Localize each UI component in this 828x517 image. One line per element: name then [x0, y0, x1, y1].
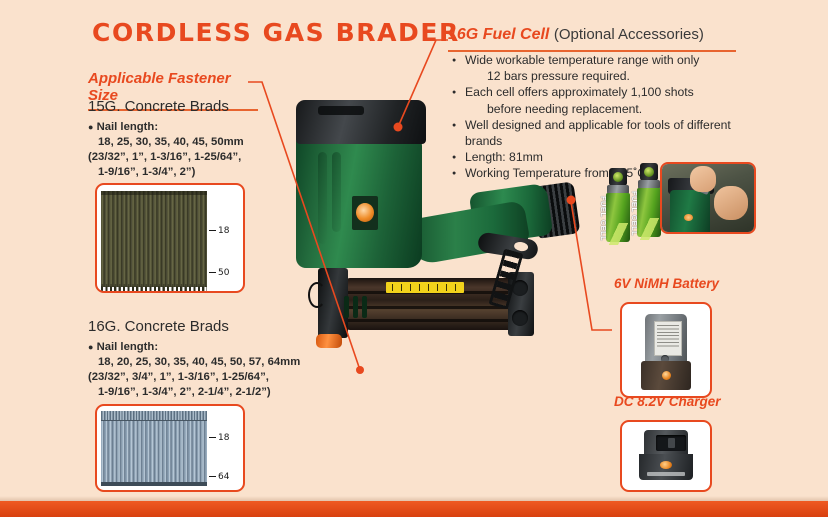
nail-strip-15g-graphic	[101, 191, 207, 287]
charger-label-text: DC 8.2V Charger	[614, 394, 721, 409]
fuel-cell-canister-1: FUEL CELL	[605, 168, 631, 242]
brand-logo-icon	[352, 196, 378, 230]
page-title: CORDLESS GAS BRADER	[92, 18, 460, 47]
bullet-dot-icon: ●	[88, 342, 93, 352]
magazine-scale-sticker	[386, 282, 464, 293]
vent-slots	[342, 296, 370, 318]
fuel-cell-can-label: FUEL CELL	[599, 196, 608, 240]
battery-image	[620, 302, 712, 398]
product-spec-page: CORDLESS GAS BRADER Applicable Fastener …	[0, 0, 828, 517]
top-cap	[296, 100, 426, 144]
depth-adjust-knob	[316, 334, 342, 348]
fuel-cell-installation-photo	[660, 162, 756, 234]
battery-label: 6V NiMH Battery	[614, 276, 719, 291]
cordless-gas-nailer-image	[282, 92, 582, 412]
bullet-dot-icon: ●	[88, 122, 93, 132]
battery-label-text: 6V NiMH Battery	[614, 276, 719, 291]
fuel-cell-canister-2: FUEL CELL	[636, 163, 662, 237]
image-16g-brads: 18 64	[95, 404, 245, 492]
tick-label-16g-bottom: 64	[209, 472, 229, 482]
bottom-bar	[0, 501, 828, 517]
tick-label-15g-top: 18	[209, 226, 229, 236]
charger-image	[620, 420, 712, 492]
charger-graphic	[639, 430, 693, 484]
tick-label-15g-bottom: 50	[209, 268, 229, 278]
list-item: Wide workable temperature range with onl…	[452, 52, 742, 84]
fuel-cell-can-label: FUEL CELL	[630, 191, 639, 235]
tick-label-16g-top: 18	[209, 433, 229, 443]
subheading-15g: 15G. Concrete Brads	[88, 98, 229, 115]
fuel-cell-heading: 16G Fuel Cell (Optional Accessories)	[448, 26, 736, 48]
subheading-16g: 16G. Concrete Brads	[88, 318, 229, 335]
nail-strip-16g-graphic	[101, 411, 207, 486]
fuel-cell-heading-suffix: (Optional Accessories)	[554, 26, 704, 43]
fuel-cell-heading-label: 16G Fuel Cell	[448, 26, 549, 43]
battery-graphic	[641, 314, 691, 390]
feature-line: Wide workable temperature range with onl…	[465, 53, 699, 67]
image-15g-brads: 18 50	[95, 183, 245, 293]
tool-body	[296, 136, 422, 268]
feature-line-cont: 12 bars pressure required.	[465, 68, 742, 84]
charger-label: DC 8.2V Charger	[614, 394, 721, 409]
